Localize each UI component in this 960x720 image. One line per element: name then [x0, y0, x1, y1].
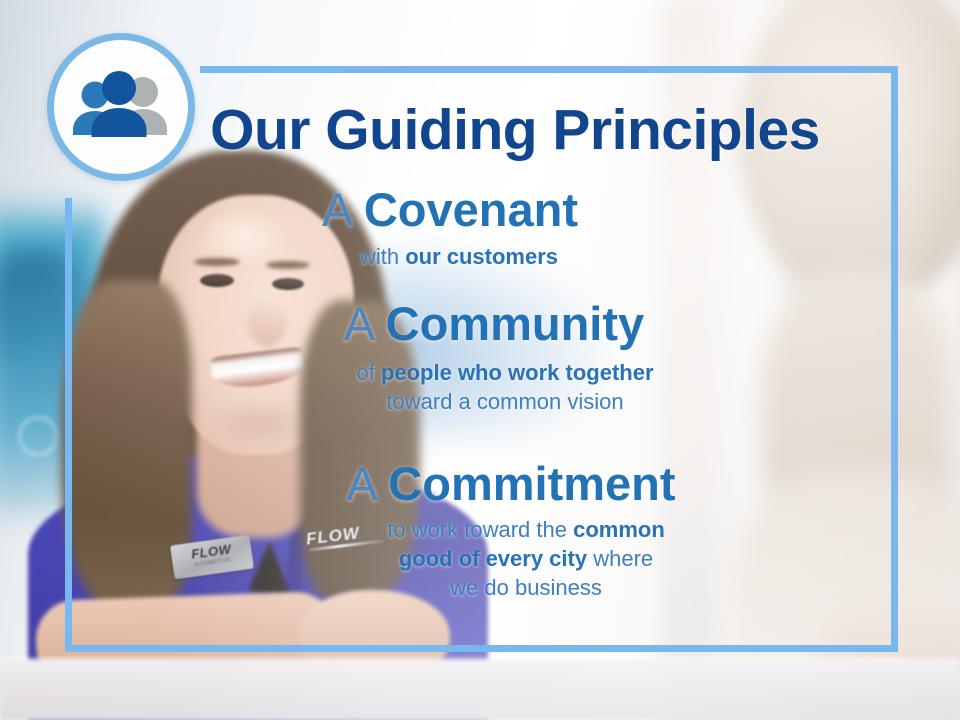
community-sub-bold: people who work together	[381, 360, 654, 385]
page-title: Our Guiding Principles	[0, 97, 960, 163]
principle-community-heading: A Community	[0, 300, 960, 349]
principle-community: A Community of people who work together …	[0, 300, 960, 416]
guiding-principles-graphic: FLOW AUTOMOTIVE FLOW	[0, 0, 960, 720]
principle-commitment-lead: A	[346, 457, 375, 510]
community-sub-plain: of	[356, 360, 380, 385]
commitment-sub-plain-2: where	[587, 546, 653, 571]
principle-commitment-key: Commitment	[388, 457, 675, 510]
principle-commitment-heading: A Commitment	[0, 460, 960, 509]
eye-right	[272, 278, 304, 290]
principle-community-key: Community	[386, 297, 645, 350]
principle-covenant-key: Covenant	[364, 183, 578, 236]
principle-covenant: A Covenant with our customers	[0, 186, 900, 271]
commitment-sub-bold-2: good of every city	[399, 546, 587, 571]
principle-covenant-subtitle: with our customers	[0, 242, 900, 271]
commitment-sub-line-2: good of every city where	[92, 544, 960, 573]
community-sub-line-2: toward a common vision	[50, 387, 960, 416]
principle-covenant-heading: A Covenant	[0, 186, 900, 235]
covenant-sub-plain: with	[360, 244, 405, 269]
principle-community-lead: A	[344, 297, 373, 350]
commitment-sub-bold-1: common	[573, 517, 665, 542]
eye-left	[200, 274, 234, 287]
principle-commitment-subtitle: to work toward the common good of every …	[0, 515, 960, 602]
principle-commitment: A Commitment to work toward the common g…	[0, 460, 960, 602]
principle-covenant-lead: A	[322, 183, 351, 236]
frame-border-bottom	[65, 645, 898, 652]
frame-border-top	[200, 66, 898, 73]
commitment-sub-line-1: to work toward the common	[92, 515, 960, 544]
desk-surface	[0, 660, 960, 720]
commitment-sub-plain-1: to work toward the	[387, 517, 573, 542]
commitment-sub-line-3: we do business	[92, 573, 960, 602]
principle-community-subtitle: of people who work together toward a com…	[0, 358, 960, 416]
community-sub-line-1: of people who work together	[50, 358, 960, 387]
covenant-sub-bold: our customers	[405, 244, 558, 269]
